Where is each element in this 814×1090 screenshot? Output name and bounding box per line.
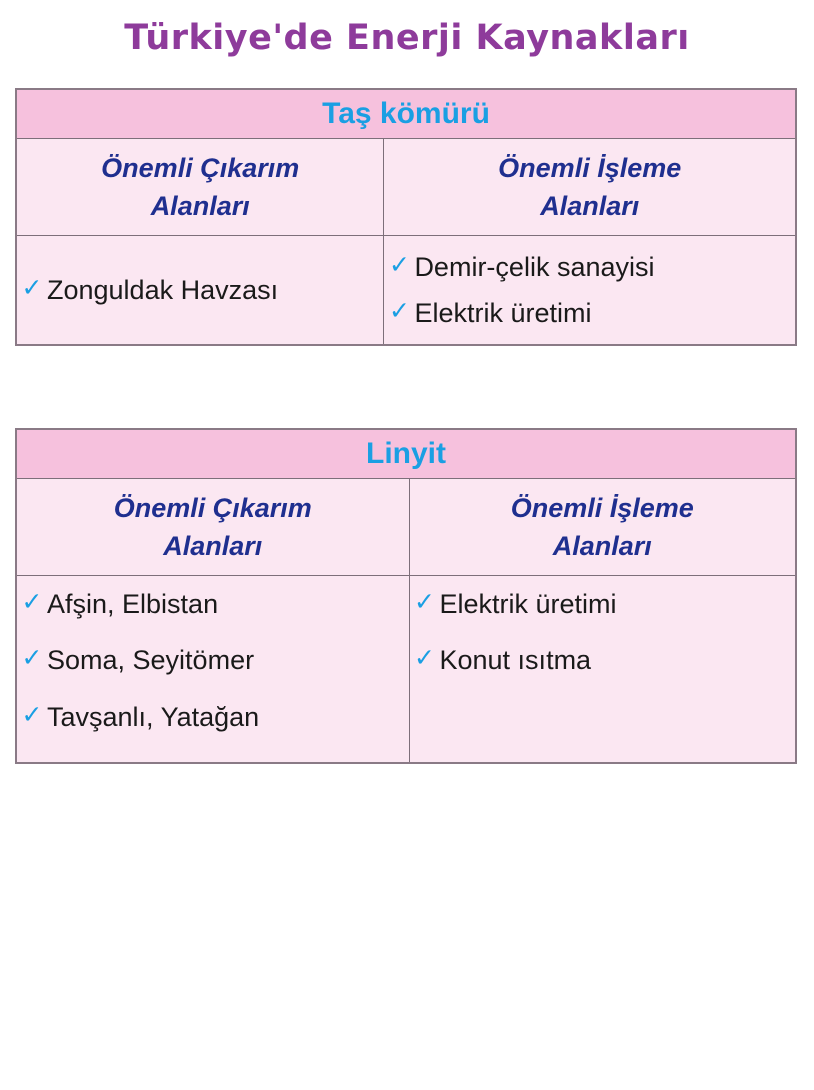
column-header-line2: Alanları xyxy=(553,531,652,561)
table-column-header-row: Önemli Çıkarım Alanları Önemli İşleme Al… xyxy=(16,139,796,236)
check-icon: ✓ xyxy=(384,248,414,281)
item-list: ✓ Demir-çelik sanayisi ✓ Elektrik üretim… xyxy=(384,244,795,337)
list-item-label: Elektrik üretimi xyxy=(440,585,796,623)
check-icon: ✓ xyxy=(410,585,440,618)
column-header-line1: Önemli İşleme xyxy=(511,493,694,523)
check-icon: ✓ xyxy=(17,641,47,674)
list-item: ✓ Tavşanlı, Yatağan xyxy=(17,689,409,745)
list-item: ✓ Soma, Seyitömer xyxy=(17,632,409,688)
table-title-row: Linyit xyxy=(16,429,796,479)
table-title-tas-komuru: Taş kömürü xyxy=(16,89,796,139)
list-item: ✓ Zonguldak Havzası xyxy=(17,267,383,313)
cell-cikarim-alanlari: ✓ Zonguldak Havzası xyxy=(16,236,384,346)
column-header-cikarim-alanlari: Önemli Çıkarım Alanları xyxy=(16,479,409,576)
column-header-isleme-alanlari: Önemli İşleme Alanları xyxy=(409,479,796,576)
check-icon: ✓ xyxy=(384,294,414,327)
table-column-header-row: Önemli Çıkarım Alanları Önemli İşleme Al… xyxy=(16,479,796,576)
item-list: ✓ Zonguldak Havzası xyxy=(17,267,383,313)
page-title: Türkiye'de Enerji Kaynakları xyxy=(0,18,814,58)
cell-cikarim-alanlari: ✓ Afşin, Elbistan ✓ Soma, Seyitömer ✓ Ta… xyxy=(16,576,409,764)
item-list: ✓ Elektrik üretimi ✓ Konut ısıtma xyxy=(410,576,796,689)
column-header-line1: Önemli İşleme xyxy=(498,153,681,183)
column-header-line1: Önemli Çıkarım xyxy=(101,153,299,183)
table-row: ✓ Zonguldak Havzası ✓ Demir-çelik sanayi… xyxy=(16,236,796,346)
list-item-label: Elektrik üretimi xyxy=(414,294,795,332)
list-item: ✓ Elektrik üretimi xyxy=(384,290,795,336)
check-icon: ✓ xyxy=(17,698,47,731)
list-item-label: Konut ısıtma xyxy=(440,641,796,679)
table-title-row: Taş kömürü xyxy=(16,89,796,139)
check-icon: ✓ xyxy=(17,271,47,304)
check-icon: ✓ xyxy=(410,641,440,674)
table-tas-komuru: Taş kömürü Önemli Çıkarım Alanları Öneml… xyxy=(15,88,797,346)
item-list: ✓ Afşin, Elbistan ✓ Soma, Seyitömer ✓ Ta… xyxy=(17,576,409,745)
list-item-label: Afşin, Elbistan xyxy=(47,585,409,623)
column-header-isleme-alanlari: Önemli İşleme Alanları xyxy=(384,139,796,236)
check-icon: ✓ xyxy=(17,585,47,618)
table-row: ✓ Afşin, Elbistan ✓ Soma, Seyitömer ✓ Ta… xyxy=(16,576,796,764)
column-header-line2: Alanları xyxy=(163,531,262,561)
cell-isleme-alanlari: ✓ Elektrik üretimi ✓ Konut ısıtma xyxy=(409,576,796,764)
column-header-line1: Önemli Çıkarım xyxy=(114,493,312,523)
list-item-label: Tavşanlı, Yatağan xyxy=(47,698,409,736)
column-header-line2: Alanları xyxy=(151,191,250,221)
cell-isleme-alanlari: ✓ Demir-çelik sanayisi ✓ Elektrik üretim… xyxy=(384,236,796,346)
column-header-line2: Alanları xyxy=(540,191,639,221)
table-title-linyit: Linyit xyxy=(16,429,796,479)
list-item-label: Soma, Seyitömer xyxy=(47,641,409,679)
list-item-label: Demir-çelik sanayisi xyxy=(414,248,795,286)
column-header-cikarim-alanlari: Önemli Çıkarım Alanları xyxy=(16,139,384,236)
list-item-label: Zonguldak Havzası xyxy=(47,271,383,309)
list-item: ✓ Demir-çelik sanayisi xyxy=(384,244,795,290)
list-item: ✓ Konut ısıtma xyxy=(410,632,796,688)
list-item: ✓ Elektrik üretimi xyxy=(410,576,796,632)
table-linyit: Linyit Önemli Çıkarım Alanları Önemli İş… xyxy=(15,428,797,764)
list-item: ✓ Afşin, Elbistan xyxy=(17,576,409,632)
